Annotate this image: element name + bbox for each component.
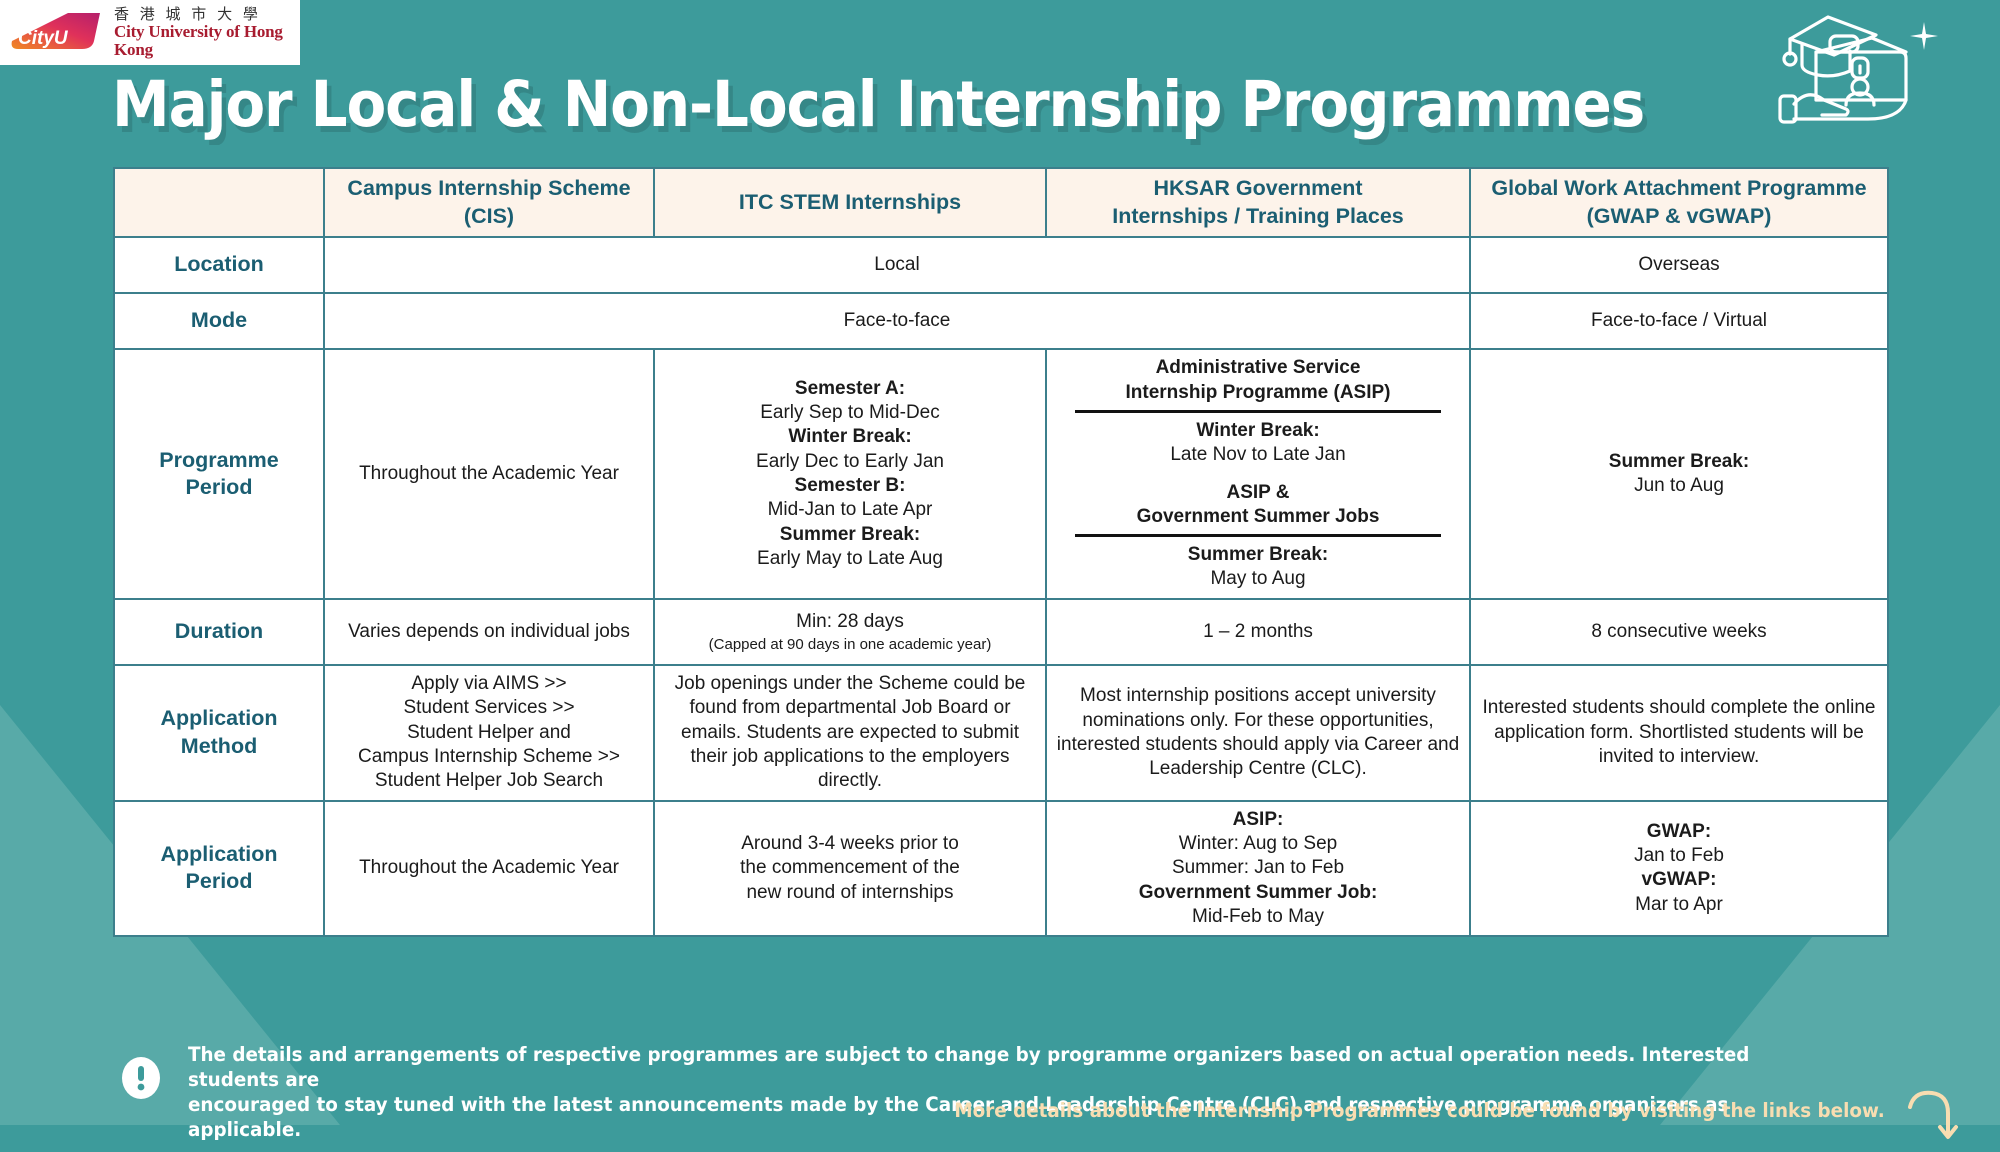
period-itc-1-bold: Winter Break:: [663, 425, 1037, 449]
header-hksar: HKSAR Government Internships / Training …: [1046, 168, 1470, 237]
period-hksar-g1-bold: Winter Break:: [1069, 419, 1447, 443]
appperiod-gwap-2-bold: vGWAP:: [1479, 868, 1879, 892]
cell-period-hksar: Administrative Service Internship Progra…: [1046, 349, 1470, 599]
graduation-cap-briefcase-hand-icon: [1772, 8, 1922, 135]
rowlabel-application-period-line1: Application: [123, 841, 315, 869]
internship-programmes-table: Campus Internship Scheme (CIS) ITC STEM …: [113, 167, 1887, 937]
cell-method-itc: Job openings under the Scheme could be f…: [654, 665, 1046, 801]
cell-mode-f2f: Face-to-face: [324, 293, 1470, 349]
footer-links-text: More details about the Internship Progra…: [955, 1099, 1885, 1122]
rowlabel-location: Location: [114, 237, 324, 293]
period-hksar-g1-title1: Administrative Service: [1069, 356, 1447, 380]
appperiod-gwap-0-bold: GWAP:: [1479, 820, 1879, 844]
appperiod-gwap-1-text: Jan to Feb: [1479, 844, 1879, 868]
header-gwap: Global Work Attachment Programme (GWAP &…: [1470, 168, 1888, 237]
logo-chinese-name: 香 港 城 市 大 學: [114, 6, 300, 22]
method-cis-0: Apply via AIMS >>: [333, 672, 645, 696]
cell-appperiod-itc: Around 3-4 weeks prior to the commenceme…: [654, 801, 1046, 937]
rowlabel-programme-period: Programme Period: [114, 349, 324, 599]
period-hksar-g1-text: Late Nov to Late Jan: [1069, 443, 1447, 467]
cell-method-hksar: Most internship positions accept univers…: [1046, 665, 1470, 801]
rowlabel-application-period: Application Period: [114, 801, 324, 937]
cell-period-itc: Semester A: Early Sep to Mid-Dec Winter …: [654, 349, 1046, 599]
header-hksar-line2: Internships / Training Places: [1055, 203, 1461, 231]
footer-note: The details and arrangements of respecti…: [188, 1043, 1786, 1143]
rowlabel-mode: Mode: [114, 293, 324, 349]
appperiod-hksar-3-bold: Government Summer Job:: [1055, 881, 1461, 905]
cell-appperiod-cis: Throughout the Academic Year: [324, 801, 654, 937]
table-header-row: Campus Internship Scheme (CIS) ITC STEM …: [114, 168, 1888, 237]
appperiod-hksar-2-text: Summer: Jan to Feb: [1055, 856, 1461, 880]
appperiod-itc-0: Around 3-4 weeks prior to: [663, 832, 1037, 856]
divider-hksar-2: [1075, 534, 1441, 537]
appperiod-gwap-3-text: Mar to Apr: [1479, 893, 1879, 917]
period-hksar-g2-bold: Summer Break:: [1069, 543, 1447, 567]
period-itc-3-bold: Summer Break:: [663, 523, 1037, 547]
table-row-mode: Mode Face-to-face Face-to-face / Virtual: [114, 293, 1888, 349]
rowlabel-application-method: Application Method: [114, 665, 324, 801]
cell-period-gwap: Summer Break: Jun to Aug: [1470, 349, 1888, 599]
period-itc-2-bold: Semester B:: [663, 474, 1037, 498]
period-gwap-bold: Summer Break:: [1479, 450, 1879, 474]
period-itc-3-text: Early May to Late Aug: [663, 547, 1037, 571]
cell-duration-hksar: 1 – 2 months: [1046, 599, 1470, 665]
header-cis: Campus Internship Scheme (CIS): [324, 168, 654, 237]
rowlabel-application-method-line2: Method: [123, 733, 315, 761]
table-row-duration: Duration Varies depends on individual jo…: [114, 599, 1888, 665]
rowlabel-duration: Duration: [114, 599, 324, 665]
cell-location-local: Local: [324, 237, 1470, 293]
rowlabel-programme-period-line1: Programme: [123, 447, 315, 475]
header-cis-line2: (CIS): [333, 203, 645, 231]
header-itc: ITC STEM Internships: [654, 168, 1046, 237]
table-row-location: Location Local Overseas: [114, 237, 1888, 293]
svg-text:CityU: CityU: [18, 28, 69, 49]
period-hksar-g2-title2: Government Summer Jobs: [1069, 505, 1447, 529]
header-cis-line1: Campus Internship Scheme: [333, 175, 645, 203]
cell-appperiod-gwap: GWAP: Jan to Feb vGWAP: Mar to Apr: [1470, 801, 1888, 937]
page-title: Major Local & Non-Local Internship Progr…: [112, 68, 1644, 141]
period-hksar-g1-title2: Internship Programme (ASIP): [1069, 381, 1447, 405]
table-row-application-method: Application Method Apply via AIMS >> Stu…: [114, 665, 1888, 801]
header-corner-blank: [114, 168, 324, 237]
sparkle-icon: [1910, 22, 1938, 55]
rowlabel-programme-period-line2: Period: [123, 474, 315, 502]
period-itc-0-text: Early Sep to Mid-Dec: [663, 401, 1037, 425]
cityu-logo-mark-icon: CityU: [8, 11, 104, 55]
method-cis-1: Student Services >>: [333, 696, 645, 720]
table-row-application-period: Application Period Throughout the Academ…: [114, 801, 1888, 937]
cell-method-gwap: Interested students should complete the …: [1470, 665, 1888, 801]
period-itc-1-text: Early Dec to Early Jan: [663, 450, 1037, 474]
method-cis-2: Student Helper and: [333, 721, 645, 745]
period-itc-0-bold: Semester A:: [663, 377, 1037, 401]
cell-duration-cis: Varies depends on individual jobs: [324, 599, 654, 665]
header-gwap-line1: Global Work Attachment Programme: [1479, 175, 1879, 203]
appperiod-hksar-1-text: Winter: Aug to Sep: [1055, 832, 1461, 856]
rowlabel-application-period-line2: Period: [123, 868, 315, 896]
cell-method-cis: Apply via AIMS >> Student Services >> St…: [324, 665, 654, 801]
table-row-programme-period: Programme Period Throughout the Academic…: [114, 349, 1888, 599]
cityu-logo: CityU 香 港 城 市 大 學 City University of Hon…: [0, 0, 300, 65]
header-itc-line1: ITC STEM Internships: [663, 189, 1037, 217]
divider-hksar-1: [1075, 410, 1441, 413]
exclamation-circle-icon: [118, 1055, 164, 1106]
appperiod-hksar-0-bold: ASIP:: [1055, 808, 1461, 832]
method-cis-3: Campus Internship Scheme >>: [333, 745, 645, 769]
rowlabel-application-method-line1: Application: [123, 705, 315, 733]
period-hksar-g2-title1: ASIP &: [1069, 481, 1447, 505]
duration-itc-main: Min: 28 days: [663, 610, 1037, 634]
cell-location-overseas: Overseas: [1470, 237, 1888, 293]
cell-mode-f2f-virtual: Face-to-face / Virtual: [1470, 293, 1888, 349]
curved-down-arrow-icon: [1904, 1085, 1966, 1152]
header-gwap-line2: (GWAP & vGWAP): [1479, 203, 1879, 231]
footer-disclaimer: The details and arrangements of respecti…: [0, 1033, 2000, 1125]
appperiod-itc-2: new round of internships: [663, 881, 1037, 905]
duration-itc-note: (Capped at 90 days in one academic year): [663, 635, 1037, 654]
logo-english-name: City University of Hong Kong: [114, 23, 300, 60]
cell-appperiod-hksar: ASIP: Winter: Aug to Sep Summer: Jan to …: [1046, 801, 1470, 937]
appperiod-itc-1: the commencement of the: [663, 856, 1037, 880]
cell-duration-gwap: 8 consecutive weeks: [1470, 599, 1888, 665]
period-hksar-g2-text: May to Aug: [1069, 567, 1447, 591]
cell-period-cis: Throughout the Academic Year: [324, 349, 654, 599]
method-cis-4: Student Helper Job Search: [333, 769, 645, 793]
header-hksar-line1: HKSAR Government: [1055, 175, 1461, 203]
appperiod-hksar-4-text: Mid-Feb to May: [1055, 905, 1461, 929]
period-gwap-text: Jun to Aug: [1479, 474, 1879, 498]
footer-note-line1: The details and arrangements of respecti…: [188, 1043, 1786, 1093]
period-itc-2-text: Mid-Jan to Late Apr: [663, 498, 1037, 522]
cell-duration-itc: Min: 28 days (Capped at 90 days in one a…: [654, 599, 1046, 665]
